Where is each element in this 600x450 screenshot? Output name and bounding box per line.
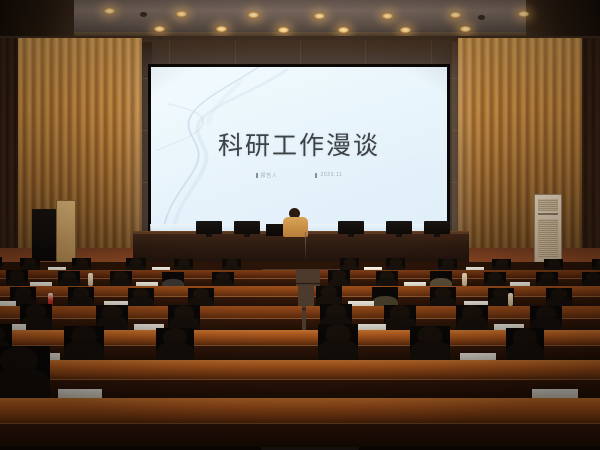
projection-screen: 科研工作漫谈 报告人2023.11 [151,67,447,231]
slide-subtitle: 报告人2023.11 [151,172,447,179]
downlight-back-0 [104,8,115,14]
slide-subtitle-item-0: 报告人 [256,172,278,179]
downlight-back-3 [314,13,325,19]
audience-member [156,328,194,364]
audience-desk-row [320,270,600,279]
curtain-right [458,38,582,260]
water-bottle [88,273,93,286]
downlight-back-4 [382,13,393,19]
subtitle-text: 2023.11 [320,172,342,178]
downlight-front-3 [338,27,349,33]
desk-front-face [0,424,320,447]
desk-monitor-1 [234,221,260,234]
downlight-back-2 [248,12,259,18]
ceiling-fixture-1 [478,15,485,20]
audience-desk-row [0,330,304,346]
downlight-front-1 [216,26,227,32]
audience-member [318,324,358,364]
audience-torso [0,367,50,402]
audience-desk-row [0,270,296,279]
desk-front-face [282,424,600,447]
audience-desk-row [282,398,600,424]
audience-desk-row [290,360,600,380]
audience-member [0,346,50,402]
microphone-stand [305,232,306,262]
downlight-front-5 [460,26,471,32]
ceiling-fixture-0 [140,12,147,17]
laptop [266,224,283,236]
downlight-back-1 [176,11,187,17]
desk-monitor-4 [424,221,450,234]
water-bottle [508,293,513,306]
desk-monitor-0 [196,221,222,234]
audience-desk-row [0,398,320,424]
subtitle-bullet-icon [256,173,258,178]
air-conditioner-unit [534,194,562,264]
wood-cabinet [56,200,76,264]
downlight-back-6 [518,11,529,17]
audience-member [64,326,104,364]
desk-monitor-3 [386,221,412,234]
subtitle-text: 报告人 [261,172,278,179]
downlight-front-2 [278,27,289,33]
lecture-hall-photo: 科研工作漫谈 报告人2023.11 [0,0,600,450]
downlight-back-5 [450,12,461,18]
slide-title: 科研工作漫谈 [151,126,447,162]
downlight-front-4 [400,27,411,33]
water-bottle [462,273,467,286]
subtitle-bullet-icon [315,173,317,178]
downlight-front-0 [154,26,165,32]
audience-member [506,328,544,364]
audience-member [410,326,450,364]
slide-subtitle-item-1: 2023.11 [315,172,342,179]
desk-monitor-2 [338,221,364,234]
